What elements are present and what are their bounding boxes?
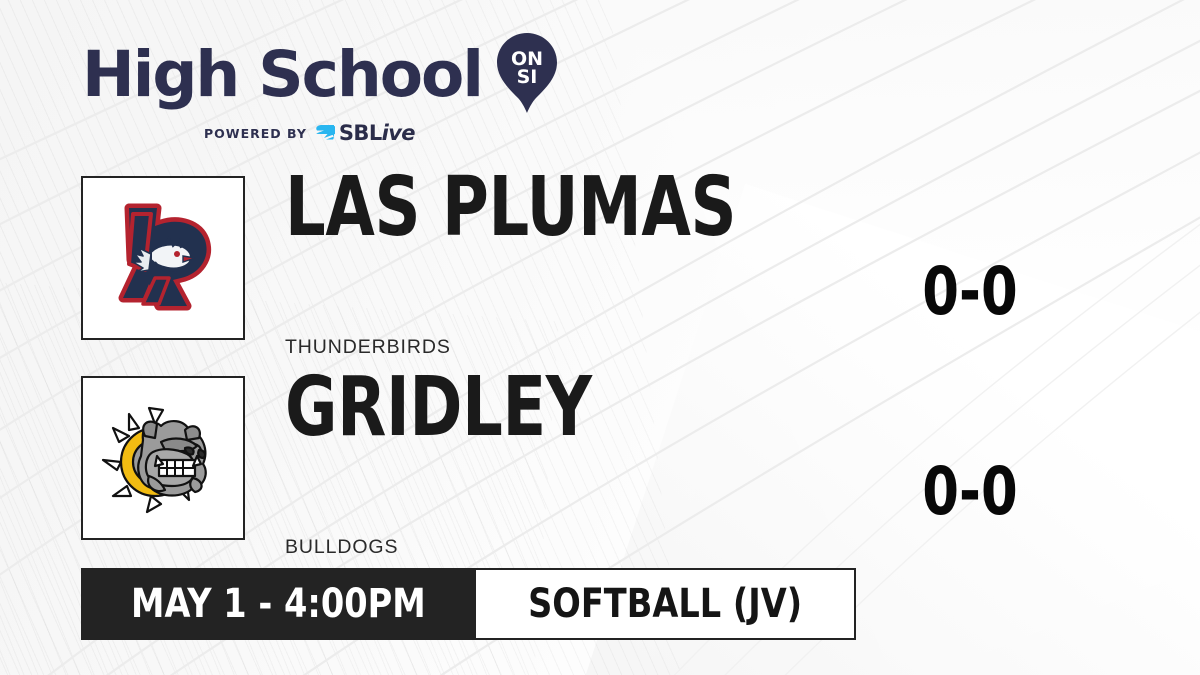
sblive-logo: SBLive: [314, 123, 415, 144]
home-team-mascot: THUNDERBIRDS: [285, 336, 451, 359]
las-plumas-lp-thunderbird-icon: [99, 194, 227, 322]
sblive-s-mark-icon: [314, 124, 336, 144]
game-sport-text: SOFTBALL (JV): [528, 584, 802, 624]
game-datetime-chip: MAY 1 - 4:00PM: [81, 568, 476, 640]
sblive-italic: ive: [382, 121, 415, 145]
scoreboard-graphic: High School ON SI POWERED BY SBLive: [0, 0, 1200, 675]
brand-title-row: High School ON SI: [82, 34, 512, 114]
game-meta-bar: MAY 1 - 4:00PM SOFTBALL (JV): [81, 568, 856, 640]
brand-title: High School: [82, 43, 482, 106]
home-team-logo-box: [81, 176, 245, 340]
away-team-mascot: BULLDOGS: [285, 536, 398, 559]
away-team-logo-box: [81, 376, 245, 540]
pin-text-si: SI: [517, 66, 538, 88]
powered-by-row: POWERED BY SBLive: [204, 123, 512, 144]
home-team-score: 0-0: [898, 259, 1042, 325]
away-team-score: 0-0: [898, 459, 1042, 525]
brand-header: High School ON SI POWERED BY SBLive: [82, 34, 512, 134]
on-si-pin-icon: ON SI: [496, 32, 558, 114]
sblive-bold: SBL: [339, 121, 382, 145]
gridley-bulldog-icon: [99, 394, 227, 522]
game-sport-chip: SOFTBALL (JV): [476, 568, 856, 640]
sblive-wordmark: SBLive: [339, 123, 415, 144]
home-team-name: LAS PLUMAS: [285, 173, 736, 244]
away-team-name: GRIDLEY: [285, 373, 592, 444]
powered-by-label: POWERED BY: [204, 126, 307, 141]
game-datetime-text: MAY 1 - 4:00PM: [131, 584, 426, 624]
